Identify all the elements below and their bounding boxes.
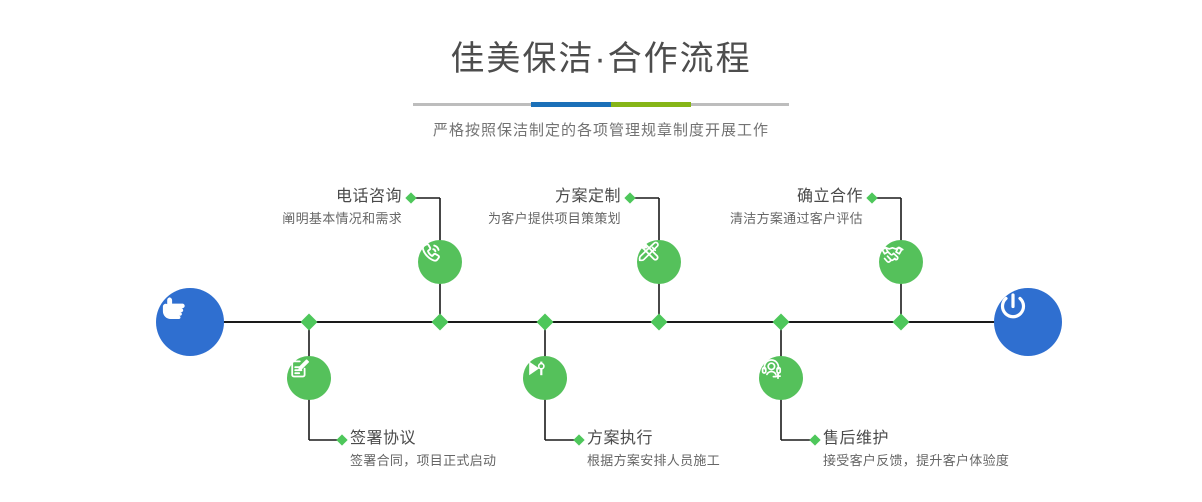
flow-label-step-3: 方案定制 为客户提供项目策策划 xyxy=(410,186,621,229)
flow-label-step-3-desc: 为客户提供项目策策划 xyxy=(410,208,621,229)
diamond-step-4 xyxy=(537,314,554,331)
diamond-step-2 xyxy=(301,314,318,331)
diamond-step-1 xyxy=(432,314,449,331)
flow-node-step-2[interactable] xyxy=(287,356,331,400)
flow-node-step-5[interactable] xyxy=(879,240,923,284)
flow-node-step-3[interactable] xyxy=(637,240,681,284)
flow-label-step-6-title: 售后维护 xyxy=(823,428,1083,450)
flow-node-step-1[interactable] xyxy=(418,240,462,284)
flow-label-step-5: 确立合作 清洁方案通过客户评估 xyxy=(652,186,863,229)
flow-label-step-5-desc: 清洁方案通过客户评估 xyxy=(652,208,863,229)
diamond-step-6 xyxy=(773,314,790,331)
label-diamonds xyxy=(336,192,877,445)
flow-label-step-6-desc: 接受客户反馈，提升客户体验度 xyxy=(823,450,1083,471)
label-diamond-step-3 xyxy=(624,192,635,203)
flow-node-step-6[interactable] xyxy=(759,356,803,400)
flow-label-step-5-title: 确立合作 xyxy=(652,186,863,208)
flow-label-step-1: 电话咨询 阐明基本情况和需求 xyxy=(190,186,402,229)
flow-label-step-2-title: 签署协议 xyxy=(350,428,590,450)
flow-label-step-4-desc: 根据方案安排人员施工 xyxy=(587,450,827,471)
flow-end-node[interactable] xyxy=(994,288,1062,356)
flow-start-node[interactable] xyxy=(156,288,224,356)
label-diamond-step-2 xyxy=(336,434,347,445)
flow-label-step-4: 方案执行 根据方案安排人员施工 xyxy=(587,428,827,471)
flow-label-step-4-title: 方案执行 xyxy=(587,428,827,450)
flow-label-step-1-desc: 阐明基本情况和需求 xyxy=(190,208,402,229)
flow-label-step-1-title: 电话咨询 xyxy=(190,186,402,208)
flow-label-step-6: 售后维护 接受客户反馈，提升客户体验度 xyxy=(823,428,1083,471)
flow-label-step-2: 签署协议 签署合同，项目正式启动 xyxy=(350,428,590,471)
label-diamond-step-5 xyxy=(866,192,877,203)
process-flow-diagram: 电话咨询 阐明基本情况和需求 签署协议 签署合同，项目正式启动 xyxy=(0,0,1202,502)
diamond-step-3 xyxy=(651,314,668,331)
flow-connectors xyxy=(0,0,1202,502)
diamond-step-5 xyxy=(893,314,910,331)
flow-label-step-2-desc: 签署合同，项目正式启动 xyxy=(350,450,590,471)
flow-label-step-3-title: 方案定制 xyxy=(410,186,621,208)
flow-node-step-4[interactable] xyxy=(523,356,567,400)
